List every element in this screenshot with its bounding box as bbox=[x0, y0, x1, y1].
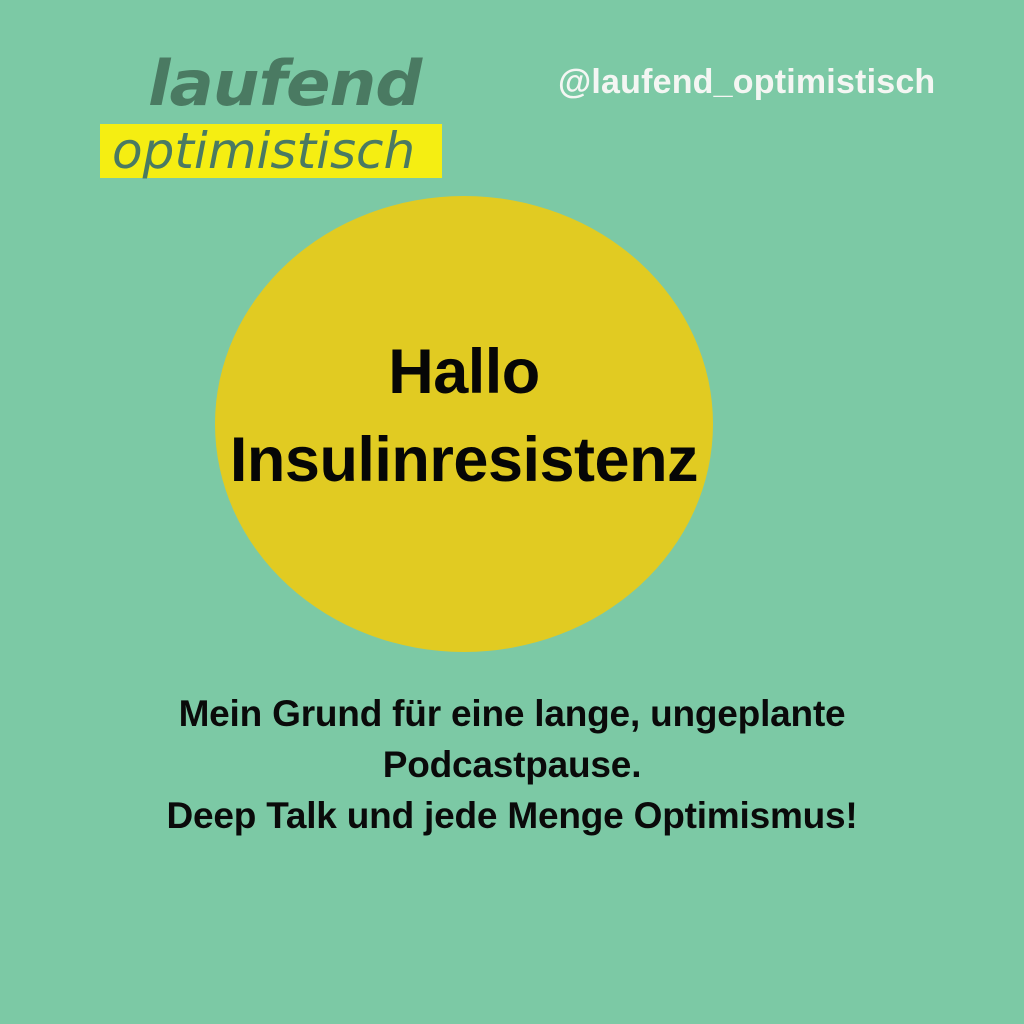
title-circle-text-group: Hallo Insulinresistenz bbox=[229, 328, 699, 504]
poster-canvas: laufend optimistisch @laufend_optimistis… bbox=[0, 0, 1024, 1024]
caption-line-2: Podcastpause. bbox=[0, 739, 1024, 790]
brand-logo: laufend optimistisch bbox=[100, 46, 500, 186]
title-line-2: Insulinresistenz bbox=[229, 416, 699, 504]
caption-line-1: Mein Grund für eine lange, ungeplante bbox=[0, 688, 1024, 739]
social-handle: @laufend_optimistisch bbox=[558, 63, 935, 102]
brand-logo-word-laufend: laufend bbox=[148, 46, 421, 122]
brand-logo-word-optimistisch: optimistisch bbox=[112, 120, 415, 182]
title-line-1: Hallo bbox=[229, 328, 699, 416]
title-circle: Hallo Insulinresistenz bbox=[215, 196, 713, 652]
caption-block: Mein Grund für eine lange, ungeplante Po… bbox=[0, 688, 1024, 841]
caption-line-3: Deep Talk und jede Menge Optimismus! bbox=[0, 790, 1024, 841]
